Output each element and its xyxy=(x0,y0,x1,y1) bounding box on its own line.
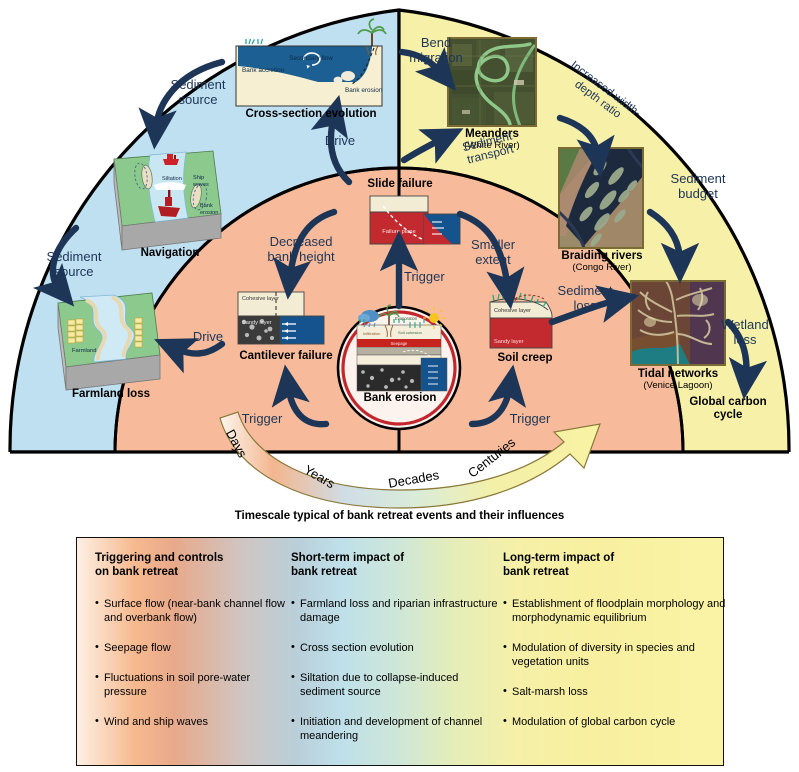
list-item: Farmland loss and riparian infrastructur… xyxy=(291,597,503,625)
node-title-braiding: Braiding rivers xyxy=(546,250,658,263)
panel-column-short-term: Short-term impact of bank retreat Farmla… xyxy=(291,551,503,755)
column-header-short-term: Short-term impact of bank retreat xyxy=(291,551,503,580)
navigation-inset: Siltation Ship waves Bank erosion xyxy=(114,151,221,250)
node-title-bank-erosion: Bank erosion xyxy=(344,392,456,405)
node-title-navigation: Navigation xyxy=(122,247,218,260)
node-title-farmland: Farmland loss xyxy=(58,388,164,401)
inset-label-soil-cohesion: Soil cohesion xyxy=(398,330,422,335)
node-title-soil-creep: Soil creep xyxy=(486,352,564,365)
inset-label-bank-erosion-nav: Bank xyxy=(200,203,213,209)
node-title-slide-failure: Slide failure xyxy=(344,178,456,191)
list-item: Initiation and development of channel me… xyxy=(291,715,503,743)
inset-label-sandy-creep: Sandy layer xyxy=(494,339,524,345)
svg-text:waves: waves xyxy=(192,182,209,188)
list-item: Establishment of floodplain morphology a… xyxy=(503,597,731,625)
inset-label-ship-waves: Ship xyxy=(193,175,204,181)
svg-text:erosion: erosion xyxy=(200,210,218,216)
inset-label-evaporation: Evaporation xyxy=(395,316,418,321)
edge-label-sediment-budget: Sediment budget xyxy=(654,172,742,201)
list-item: Cross section evolution xyxy=(291,641,503,655)
column-list-triggering: Surface flow (near-bank channel flow and… xyxy=(95,597,291,729)
panel-caption: Timescale typical of bank retreat events… xyxy=(0,510,799,522)
list-item: Fluctuations in soil pore-water pressure xyxy=(95,671,291,699)
node-title-cross-section: Cross-section evolution xyxy=(236,108,386,121)
inset-label-seepage: Seepage xyxy=(391,341,408,346)
list-item: Surface flow (near-bank channel flow and… xyxy=(95,597,291,625)
list-item: Modulation of global carbon cycle xyxy=(503,715,731,729)
summary-panel: Triggering and controls on bank retreat … xyxy=(76,537,724,766)
edge-label-decreased-bank-height: Decreased bank height xyxy=(246,235,356,264)
edge-label-smaller-extent: Smaller extent xyxy=(456,238,530,267)
inset-label-siltation: Siltation xyxy=(162,176,182,182)
panel-column-triggering: Triggering and controls on bank retreat … xyxy=(95,551,291,755)
bank-erosion-inset: Evaporation Infiltration Soil cohesion S… xyxy=(357,305,447,391)
inset-label-bank-accretion: Bank accretion xyxy=(242,67,285,74)
edge-label-trigger-left: Trigger xyxy=(232,412,292,427)
inset-label-cohesive-cant: Cohesive layer xyxy=(242,296,279,302)
inset-label-cohesive-creep: Cohesive layer xyxy=(494,308,531,314)
edge-label-sediment-loss: Sediment loss xyxy=(546,284,624,313)
node-title-tidal: Tidal networks xyxy=(625,368,731,381)
edge-label-sediment-source-top: Sediment source xyxy=(148,78,248,107)
inset-label-failure-plane: Failure plane xyxy=(382,229,416,235)
inset-label-infiltration: Infiltration xyxy=(363,331,380,336)
farmland-inset: Farmland xyxy=(58,293,160,390)
edge-label-wetland-loss: Wetland loss xyxy=(706,318,784,347)
column-list-long-term: Establishment of floodplain morphology a… xyxy=(503,597,731,729)
node-title-carbon: Global carbon cycle xyxy=(672,396,784,422)
inset-label-farmland: Farmland xyxy=(72,348,96,354)
column-header-triggering: Triggering and controls on bank retreat xyxy=(95,551,291,580)
list-item: Modulation of diversity in species and v… xyxy=(503,641,731,669)
column-list-short-term: Farmland loss and riparian infrastructur… xyxy=(291,597,503,744)
edge-label-drive-left: Drive xyxy=(178,330,238,345)
inset-label-secondary-flow: Secondary flow xyxy=(289,55,333,62)
list-item: Salt-marsh loss xyxy=(503,685,731,699)
inset-label-sandy-cant: Sandy layer xyxy=(242,320,272,326)
panel-column-long-term: Long-term impact of bank retreat Establi… xyxy=(503,551,731,755)
edge-label-bend-migration: Bend migration xyxy=(400,36,472,65)
list-item: Siltation due to collapse-induced sedime… xyxy=(291,671,503,699)
edge-label-trigger-right: Trigger xyxy=(500,412,560,427)
edge-label-drive-top: Drive xyxy=(310,134,370,149)
inset-label-bank-erosion-cs: Bank erosion xyxy=(345,87,383,94)
node-title-cantilever: Cantilever failure xyxy=(226,350,346,363)
node-sub-tidal: (Venice Lagoon) xyxy=(625,381,731,392)
list-item: Seepage flow xyxy=(95,641,291,655)
node-sub-braiding: (Congo River) xyxy=(546,263,658,274)
list-item: Wind and ship waves xyxy=(95,715,291,729)
figure-canvas: Secondary flow Bank accretion Bank erosi… xyxy=(0,0,799,772)
edge-label-trigger-center: Trigger xyxy=(404,270,462,285)
braiding-rivers-image xyxy=(559,148,643,248)
edge-label-sediment-source-left: Sediment source xyxy=(24,250,124,279)
column-header-long-term: Long-term impact of bank retreat xyxy=(503,551,731,580)
